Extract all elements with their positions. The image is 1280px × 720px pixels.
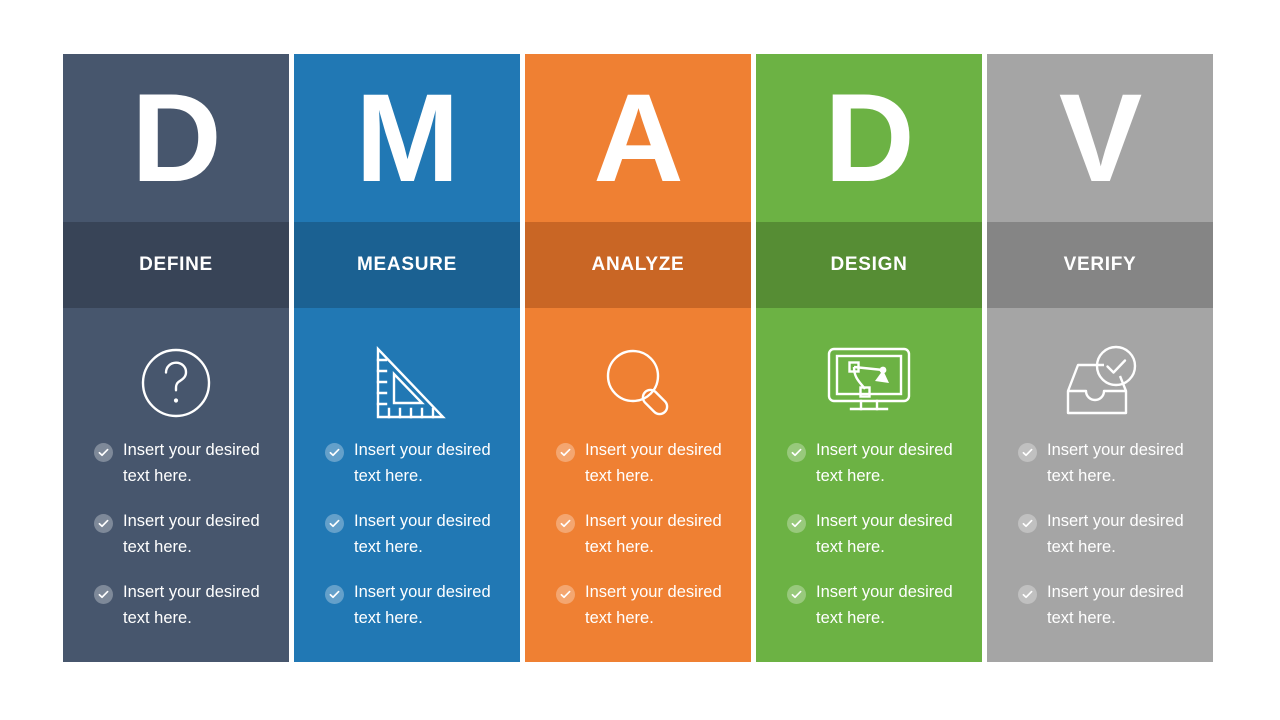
list-item-label: Insert your desired text here.	[354, 580, 519, 631]
list-item[interactable]: Insert your desired text here.	[94, 438, 289, 489]
monitor-pen-tool-icon	[821, 334, 917, 432]
check-circle-icon	[556, 443, 575, 462]
phase-title-design: DESIGN	[830, 254, 907, 276]
title-band-analyze[interactable]: ANALYZE	[525, 222, 751, 308]
big-letter-verify: V	[1059, 76, 1141, 201]
check-circle-icon	[556, 514, 575, 533]
list-item-label: Insert your desired text here.	[123, 580, 288, 631]
letter-zone-define: D	[63, 54, 289, 222]
dmadv-column-define[interactable]: D DEFINE Ins	[63, 54, 289, 662]
phase-title-analyze: ANALYZE	[592, 254, 685, 276]
title-band-measure[interactable]: MEASURE	[294, 222, 520, 308]
check-circle-icon	[325, 585, 344, 604]
list-item[interactable]: Insert your desired text here.	[325, 580, 520, 631]
list-item-label: Insert your desired text here.	[354, 509, 519, 560]
list-item[interactable]: Insert your desired text here.	[94, 580, 289, 631]
list-item-label: Insert your desired text here.	[585, 580, 750, 631]
ruler-triangle-icon	[365, 334, 449, 432]
list-item[interactable]: Insert your desired text here.	[787, 509, 982, 560]
check-circle-icon	[1018, 585, 1037, 604]
question-mark-circle-icon	[136, 334, 216, 432]
phase-title-measure: MEASURE	[357, 254, 457, 276]
list-item[interactable]: Insert your desired text here.	[325, 509, 520, 560]
body-zone-analyze: Insert your desired text here. Insert yo…	[525, 308, 751, 662]
title-band-define[interactable]: DEFINE	[63, 222, 289, 308]
magnifier-icon	[597, 334, 679, 432]
title-band-verify[interactable]: VERIFY	[987, 222, 1213, 308]
title-band-design[interactable]: DESIGN	[756, 222, 982, 308]
big-letter-define: D	[131, 76, 220, 201]
bullet-list-analyze: Insert your desired text here. Insert yo…	[525, 432, 751, 631]
letter-zone-measure: M	[294, 54, 520, 222]
big-letter-measure: M	[355, 76, 458, 201]
list-item-label: Insert your desired text here.	[816, 509, 981, 560]
phase-title-verify: VERIFY	[1064, 254, 1137, 276]
check-circle-icon	[325, 514, 344, 533]
bullet-list-design: Insert your desired text here. Insert yo…	[756, 432, 982, 631]
bullet-list-verify: Insert your desired text here. Insert yo…	[987, 432, 1213, 631]
check-circle-icon	[556, 585, 575, 604]
dmadv-column-measure[interactable]: M MEASURE	[294, 54, 520, 662]
dmadv-column-verify[interactable]: V VERIFY	[987, 54, 1213, 662]
check-circle-icon	[787, 443, 806, 462]
check-circle-icon	[94, 514, 113, 533]
check-circle-icon	[94, 443, 113, 462]
list-item[interactable]: Insert your desired text here.	[556, 509, 751, 560]
check-circle-icon	[1018, 514, 1037, 533]
list-item-label: Insert your desired text here.	[123, 509, 288, 560]
check-circle-icon	[1018, 443, 1037, 462]
list-item[interactable]: Insert your desired text here.	[94, 509, 289, 560]
bullet-list-measure: Insert your desired text here. Insert yo…	[294, 432, 520, 631]
body-zone-define: Insert your desired text here. Insert yo…	[63, 308, 289, 662]
list-item-label: Insert your desired text here.	[1047, 580, 1212, 631]
list-item-label: Insert your desired text here.	[816, 580, 981, 631]
dmadv-column-grid: D DEFINE Ins	[63, 54, 1213, 662]
letter-zone-verify: V	[987, 54, 1213, 222]
list-item-label: Insert your desired text here.	[585, 438, 750, 489]
list-item[interactable]: Insert your desired text here.	[325, 438, 520, 489]
letter-zone-design: D	[756, 54, 982, 222]
list-item[interactable]: Insert your desired text here.	[787, 438, 982, 489]
dmadv-column-analyze[interactable]: A ANALYZE Insert your des	[525, 54, 751, 662]
list-item[interactable]: Insert your desired text here.	[1018, 580, 1213, 631]
check-circle-icon	[787, 514, 806, 533]
list-item[interactable]: Insert your desired text here.	[1018, 438, 1213, 489]
dmadv-column-design[interactable]: D DESIGN	[756, 54, 982, 662]
body-zone-design: Insert your desired text here. Insert yo…	[756, 308, 982, 662]
list-item-label: Insert your desired text here.	[816, 438, 981, 489]
check-circle-icon	[325, 443, 344, 462]
big-letter-design: D	[824, 76, 913, 201]
list-item-label: Insert your desired text here.	[354, 438, 519, 489]
body-zone-verify: Insert your desired text here. Insert yo…	[987, 308, 1213, 662]
body-zone-measure: Insert your desired text here. Insert yo…	[294, 308, 520, 662]
list-item[interactable]: Insert your desired text here.	[556, 580, 751, 631]
inbox-check-icon	[1054, 334, 1146, 432]
list-item-label: Insert your desired text here.	[1047, 438, 1212, 489]
letter-zone-analyze: A	[525, 54, 751, 222]
check-circle-icon	[787, 585, 806, 604]
list-item[interactable]: Insert your desired text here.	[1018, 509, 1213, 560]
list-item-label: Insert your desired text here.	[1047, 509, 1212, 560]
big-letter-analyze: A	[593, 76, 682, 201]
list-item-label: Insert your desired text here.	[585, 509, 750, 560]
list-item[interactable]: Insert your desired text here.	[556, 438, 751, 489]
bullet-list-define: Insert your desired text here. Insert yo…	[63, 432, 289, 631]
list-item[interactable]: Insert your desired text here.	[787, 580, 982, 631]
check-circle-icon	[94, 585, 113, 604]
phase-title-define: DEFINE	[139, 254, 213, 276]
dmadv-infographic-slide: D DEFINE Ins	[0, 0, 1280, 720]
list-item-label: Insert your desired text here.	[123, 438, 288, 489]
